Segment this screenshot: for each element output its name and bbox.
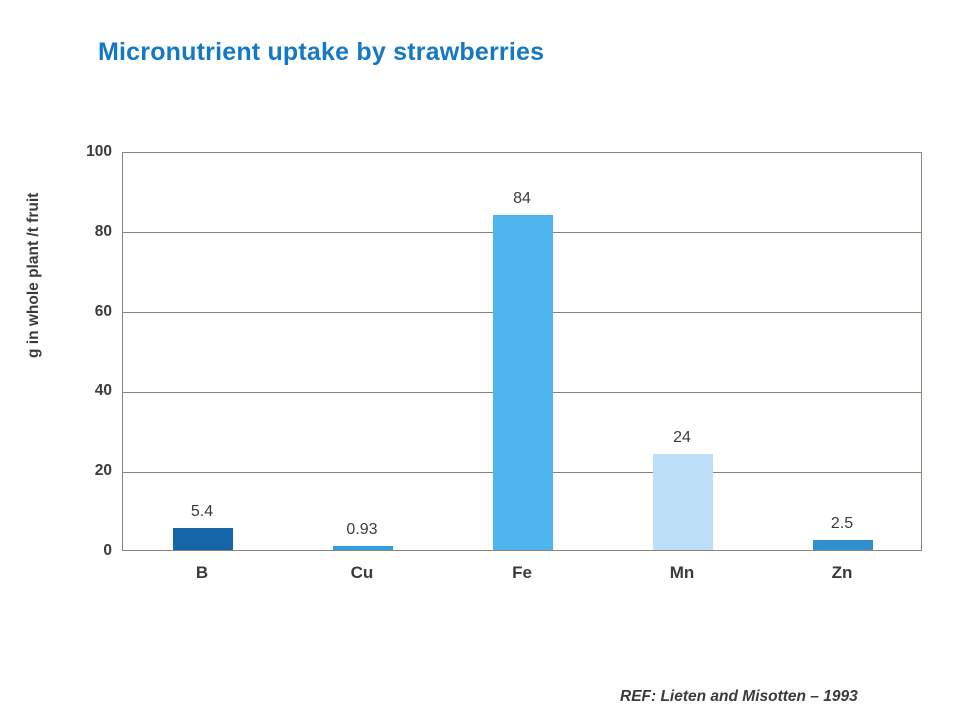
x-tick-label: Cu — [302, 563, 422, 583]
reference-note: REF: Lieten and Misotten – 1993 — [620, 688, 858, 706]
bar[interactable] — [813, 540, 873, 550]
y-tick-label: 20 — [52, 462, 112, 480]
slide-canvas: Micronutrient uptake by strawberries g i… — [0, 0, 960, 720]
bar[interactable] — [493, 215, 553, 550]
bar-value-label: 84 — [462, 190, 582, 208]
y-tick-label: 80 — [52, 223, 112, 241]
x-tick-label: Zn — [782, 563, 902, 583]
y-tick-label: 40 — [52, 382, 112, 400]
x-tick-label: Mn — [622, 563, 742, 583]
chart-title: Micronutrient uptake by strawberries — [98, 38, 544, 67]
bar-value-label: 0.93 — [302, 521, 422, 539]
bar[interactable] — [333, 546, 393, 550]
y-tick-label: 60 — [52, 303, 112, 321]
x-tick-label: B — [142, 563, 262, 583]
y-tick-label: 0 — [52, 542, 112, 560]
y-axis-title: g in whole plant /t fruit — [25, 145, 51, 405]
x-tick-label: Fe — [462, 563, 582, 583]
y-tick-label: 100 — [52, 143, 112, 161]
plot-area — [122, 152, 922, 551]
bar-value-label: 24 — [622, 429, 742, 447]
bar[interactable] — [173, 528, 233, 550]
bar-value-label: 5.4 — [142, 503, 262, 521]
bar[interactable] — [653, 454, 713, 550]
bar-value-label: 2.5 — [782, 515, 902, 533]
